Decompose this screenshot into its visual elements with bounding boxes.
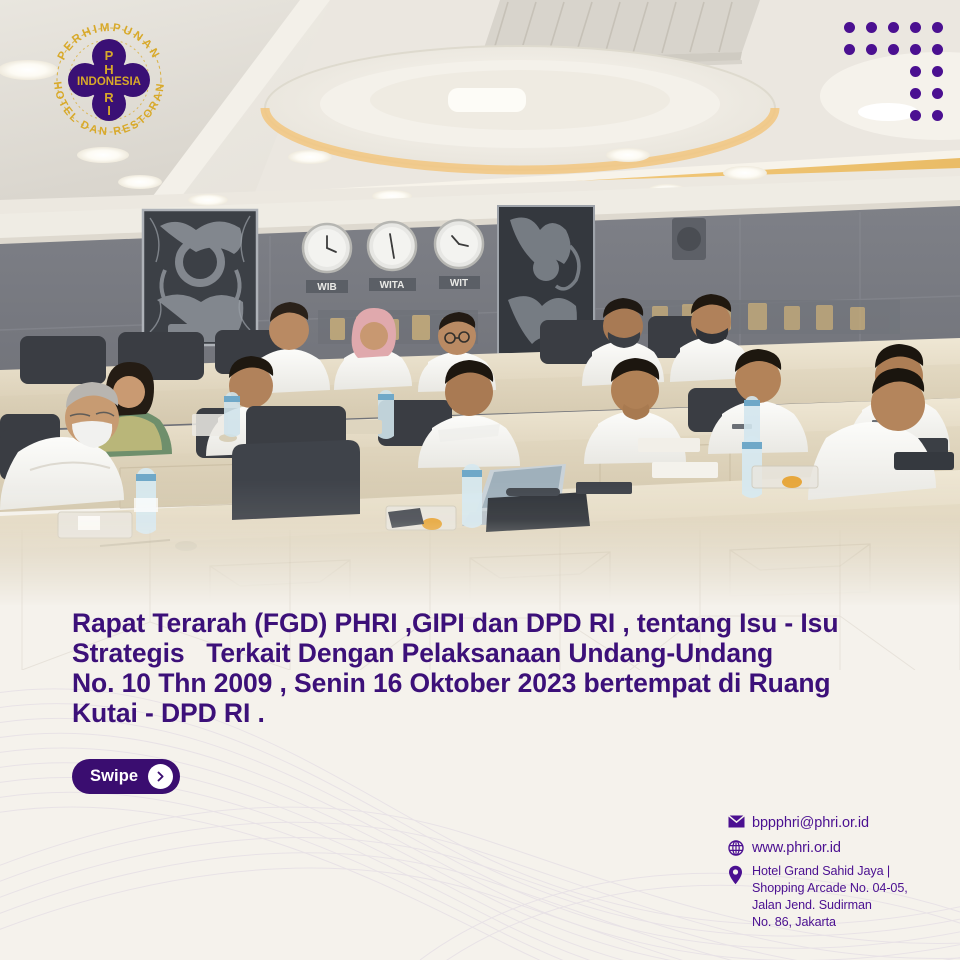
grid-dot (844, 22, 855, 33)
grid-dot (844, 44, 855, 55)
contact-website-row[interactable]: www.phri.or.id (728, 839, 948, 858)
logo-letter-p: P (105, 48, 114, 63)
grid-dot (932, 44, 943, 55)
grid-dot (866, 22, 877, 33)
grid-dot (910, 66, 921, 77)
headline-text: Rapat Terarah (FGD) PHRI ,GIPI dan DPD R… (72, 608, 902, 728)
svg-text:WITA: WITA (380, 280, 405, 291)
dot-grid-decoration (833, 22, 943, 132)
dot-grid-row (833, 44, 943, 66)
envelope-icon (728, 814, 752, 828)
grid-dot (910, 22, 921, 33)
headline-line-3: No. 10 Thn 2009 , Senin 16 Oktober 2023 … (72, 668, 902, 698)
dot-grid-row (833, 22, 943, 44)
poster-canvas: WIB WITA (0, 0, 960, 960)
headline-line-2: Strategis Terkait Dengan Pelaksanaan Und… (72, 638, 902, 668)
contact-address-row: Hotel Grand Sahid Jaya | Shopping Arcade… (728, 863, 948, 932)
grid-dot (866, 44, 877, 55)
headline-line-1: Rapat Terarah (FGD) PHRI ,GIPI dan DPD R… (72, 608, 902, 638)
contact-address-text: Hotel Grand Sahid Jaya | Shopping Arcade… (752, 863, 908, 932)
phri-logo: PERHIMPUNAN HOTEL DAN RESTORAN P H R I I… (44, 14, 174, 140)
grid-dot (910, 88, 921, 99)
swipe-button-label: Swipe (90, 767, 138, 786)
grid-dot (932, 88, 943, 99)
headline-line-4: Kutai - DPD RI . (72, 698, 902, 728)
address-line-2: Shopping Arcade No. 04-05, (752, 880, 908, 897)
grid-dot (932, 110, 943, 121)
grid-dot (932, 66, 943, 77)
logo-indonesia-text: INDONESIA (77, 76, 141, 88)
grid-dot (888, 44, 899, 55)
grid-dot (910, 110, 921, 121)
svg-text:WIT: WIT (450, 278, 468, 289)
grid-dot (888, 22, 899, 33)
dot-grid-row (833, 88, 943, 110)
contact-email-text: bppphri@phri.or.id (752, 814, 869, 833)
svg-text:WIB: WIB (317, 282, 336, 293)
swipe-button[interactable]: Swipe (72, 759, 180, 794)
grid-dot (932, 22, 943, 33)
location-pin-icon (728, 863, 752, 885)
logo-letter-i: I (107, 103, 111, 118)
address-line-4: No. 86, Jakarta (752, 914, 908, 931)
chevron-right-icon (148, 764, 173, 789)
globe-icon (728, 839, 752, 856)
dot-grid-row (833, 66, 943, 88)
grid-dot (910, 44, 921, 55)
dot-grid-row (833, 110, 943, 132)
contact-website-text: www.phri.or.id (752, 839, 841, 858)
contact-block: bppphri@phri.or.id www.phri.or.id Hote (728, 814, 948, 938)
address-line-1: Hotel Grand Sahid Jaya | (752, 863, 908, 880)
contact-email-row[interactable]: bppphri@phri.or.id (728, 814, 948, 833)
address-line-3: Jalan Jend. Sudirman (752, 897, 908, 914)
